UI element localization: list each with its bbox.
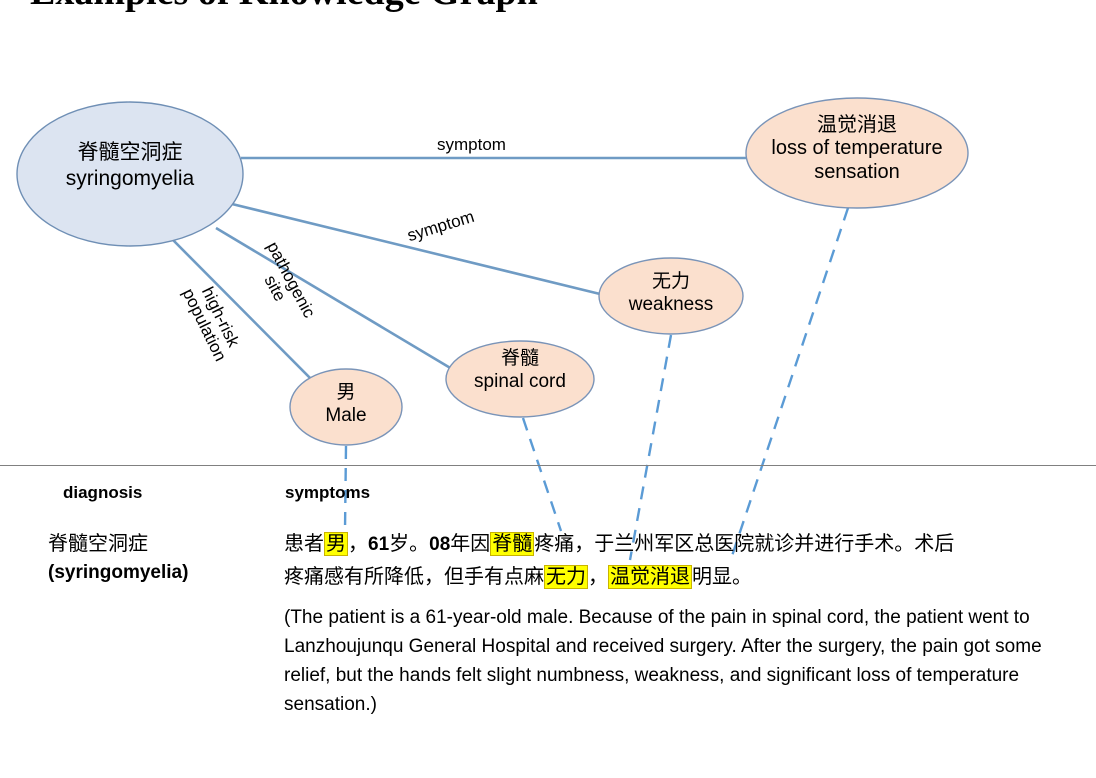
- symptoms-chinese-line-1: 患者男，61岁。08年因脊髓疼痛，于兰州军区总医院就诊并进行手术。术后: [284, 528, 1084, 561]
- node-loss-of-temperature-sensation[interactable]: [746, 98, 968, 208]
- plain-text: 明显。: [692, 566, 752, 588]
- plain-text: 岁。: [389, 533, 429, 555]
- node-layer: [17, 98, 968, 445]
- plain-text: 疼痛感有所降低，但手有点麻: [284, 566, 544, 588]
- node-weakness[interactable]: [599, 258, 743, 334]
- plain-text: 患者: [284, 533, 324, 555]
- plain-text: ，: [348, 533, 368, 555]
- diagram-canvas: Examples of Knowledge Graph 脊髓空洞症 syring…: [0, 0, 1096, 778]
- highlighted-mention: 无力: [544, 565, 588, 589]
- diagnosis-cn: 脊髓空洞症: [48, 530, 268, 559]
- node-syringomyelia[interactable]: [17, 102, 243, 246]
- node-male[interactable]: [290, 369, 402, 445]
- plain-text: 年因: [450, 533, 490, 555]
- highlighted-mention: 男: [324, 532, 348, 556]
- grounding-loss-of-temperature-sensation: [730, 208, 848, 562]
- grounding-weakness: [630, 335, 671, 560]
- column-header-diagnosis: diagnosis: [63, 483, 142, 503]
- numeric-text: 61: [368, 534, 389, 555]
- edge-high-risk-population: [172, 239, 316, 384]
- grounding-spinal-cord: [523, 418, 561, 531]
- diagnosis-en: (syringomyelia): [48, 559, 268, 587]
- plain-text: ，: [588, 566, 608, 588]
- numeric-text: 08: [429, 534, 450, 555]
- edge-symptom-weakness: [232, 204, 600, 294]
- node-spinal-cord[interactable]: [446, 341, 594, 417]
- diagnosis-cell: 脊髓空洞症 (syringomyelia): [48, 530, 268, 587]
- symptoms-chinese-line-2: 疼痛感有所降低，但手有点麻无力，温觉消退明显。: [284, 561, 1084, 593]
- plain-text: 疼痛，于兰州军区总医院就诊并进行手术。术后: [534, 533, 954, 555]
- highlighted-mention: 脊髓: [490, 532, 534, 556]
- section-divider: [0, 465, 1096, 466]
- column-header-symptoms: symptoms: [285, 483, 370, 503]
- symptoms-cell: 患者男，61岁。08年因脊髓疼痛，于兰州军区总医院就诊并进行手术。术后 疼痛感有…: [284, 528, 1084, 720]
- symptoms-english-translation: (The patient is a 61-year-old male. Beca…: [284, 604, 1084, 720]
- grounding-layer: [345, 208, 848, 562]
- highlighted-mention: 温觉消退: [608, 565, 692, 589]
